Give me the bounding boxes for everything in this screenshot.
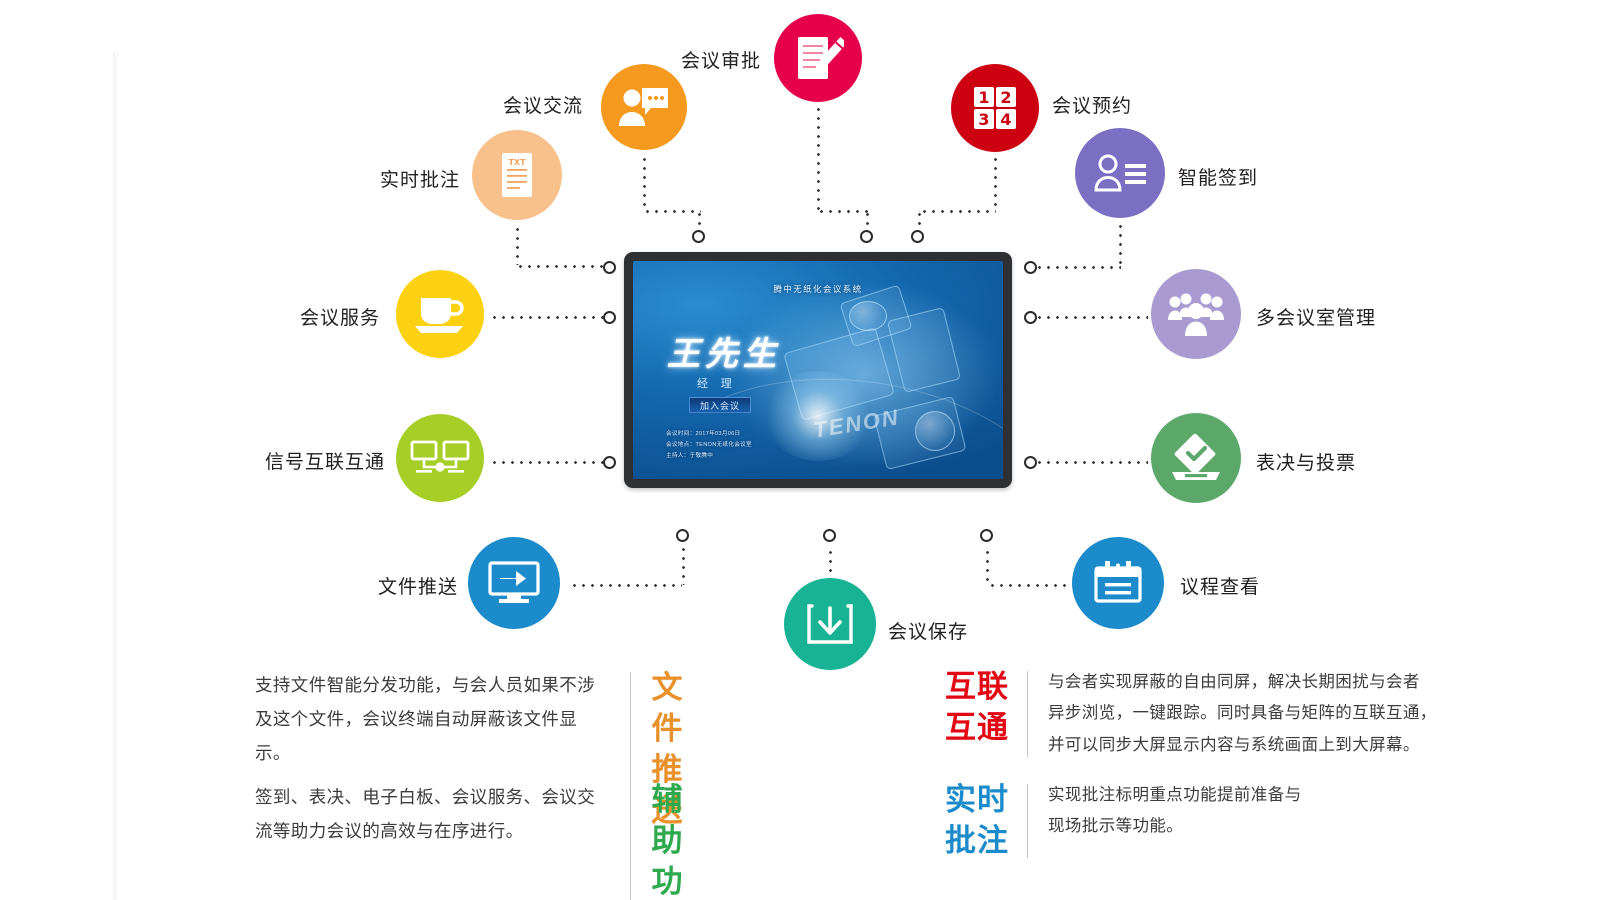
blurb-divider: [1027, 784, 1028, 858]
node-label-vote-and-poll: 表决与投票: [1256, 448, 1356, 475]
connector-segment: [643, 210, 701, 213]
node-realtime-annotation[interactable]: TXT: [472, 130, 562, 220]
decorative-globe: [915, 411, 955, 451]
blurb-auxiliary: 签到、表决、电子白板、会议服务、会议交 流等助力会议的高效与在序进行。 辅助 功…: [255, 780, 715, 900]
meeting-host: 主持人：于敬腾中: [666, 451, 752, 462]
dual-monitor-icon: [410, 438, 470, 478]
connector-node: [911, 230, 924, 243]
connector-node: [603, 456, 616, 469]
join-meeting-button[interactable]: 加入会议: [689, 397, 751, 413]
connector-segment: [817, 210, 869, 213]
decorative-world-map: [849, 301, 887, 331]
meeting-time: 会议时间：2017年03月06日: [666, 429, 752, 440]
blurb-description: 与会者实现屏蔽的自由同屏，解决长期困扰与会者 异步浏览，一键跟踪。同时具备与矩阵…: [1048, 667, 1478, 761]
blurb-tag: 互联 互通: [945, 667, 1009, 749]
node-file-push[interactable]: [468, 537, 560, 629]
node-label-meeting-service: 会议服务: [300, 303, 380, 330]
infographic-canvas: TENON 腾中无纸化会议系统 王先生 经 理 加入会议 会议时间：2017年0…: [0, 0, 1600, 900]
node-meeting-booking[interactable]: 1 2 3 4: [951, 64, 1039, 152]
blurb-tag: 实时 批注: [945, 780, 1009, 862]
coffee-cup-icon: [413, 292, 467, 336]
node-agenda-view[interactable]: [1072, 537, 1164, 629]
connector-node: [1024, 261, 1037, 274]
screen-user-role: 经 理: [697, 375, 737, 391]
node-label-multi-room-management: 多会议室管理: [1256, 303, 1376, 330]
connector-segment: [682, 545, 685, 585]
person-list-icon: [1092, 152, 1148, 194]
svg-text:2: 2: [1000, 88, 1011, 107]
people-group-icon: [1167, 290, 1225, 338]
connector-segment: [490, 461, 608, 464]
connector-segment: [994, 155, 997, 210]
node-label-realtime-annotation: 实时批注: [380, 165, 460, 192]
svg-text:3: 3: [978, 110, 989, 129]
blurb-realtime-annotation: 实时 批注 实现批注标明重点功能提前准备与 现场批示等功能。: [945, 780, 1448, 862]
node-label-meeting-save: 会议保存: [888, 617, 968, 644]
number-grid-icon: 1 2 3 4: [971, 84, 1019, 132]
connector-node: [823, 529, 836, 542]
connector-segment: [1035, 266, 1121, 269]
monitor-screen: TENON 腾中无纸化会议系统 王先生 经 理 加入会议 会议时间：2017年0…: [633, 261, 1003, 479]
connector-segment: [516, 225, 519, 265]
connector-node: [603, 261, 616, 274]
connector-node: [1024, 311, 1037, 324]
node-signal-interconnect[interactable]: [396, 414, 484, 502]
document-pencil-icon: [792, 33, 844, 83]
svg-text:4: 4: [1000, 110, 1011, 129]
blurb-description: 实现批注标明重点功能提前准备与 现场批示等功能。: [1048, 780, 1448, 843]
agenda-board-icon: [1093, 560, 1143, 606]
node-smart-checkin[interactable]: [1075, 128, 1165, 218]
blurb-divider: [1027, 671, 1028, 757]
blurb-tag: 辅助 功能: [651, 780, 715, 900]
connector-segment: [988, 584, 1070, 587]
svg-text:1: 1: [978, 88, 989, 107]
node-label-meeting-approval: 会议审批: [681, 46, 761, 73]
node-meeting-service[interactable]: [396, 270, 484, 358]
connector-segment: [490, 316, 608, 319]
connector-node: [860, 230, 873, 243]
connector-segment: [918, 210, 921, 232]
connector-node: [676, 529, 689, 542]
node-label-signal-interconnect: 信号互联互通: [265, 447, 385, 474]
download-tray-icon: [806, 600, 854, 648]
node-label-file-push: 文件推送: [378, 572, 458, 599]
screen-arrow-icon: [487, 560, 541, 606]
connector-segment: [698, 210, 701, 232]
connector-segment: [1035, 316, 1148, 319]
screen-title: 腾中无纸化会议系统: [633, 283, 1003, 295]
connector-segment: [516, 265, 608, 268]
blurb-description: 签到、表决、电子白板、会议服务、会议交 流等助力会议的高效与在序进行。: [255, 780, 612, 848]
connector-segment: [817, 105, 820, 210]
blurb-divider: [630, 784, 631, 900]
connector-segment: [570, 584, 682, 587]
node-multi-room-management[interactable]: [1151, 269, 1241, 359]
node-meeting-approval[interactable]: [774, 14, 862, 102]
blurb-description: 支持文件智能分发功能，与会人员如果不涉 及这个文件，会议终端自动屏蔽该文件显示。: [255, 668, 612, 770]
node-label-meeting-chat: 会议交流: [503, 91, 583, 118]
connector-segment: [643, 155, 646, 210]
connector-node: [980, 529, 993, 542]
connector-segment: [866, 210, 869, 232]
connector-segment: [986, 548, 989, 586]
node-label-meeting-booking: 会议预约: [1052, 91, 1132, 118]
connector-segment: [1035, 461, 1148, 464]
person-chat-icon: [617, 84, 671, 130]
node-label-agenda-view: 议程查看: [1180, 572, 1260, 599]
svg-text:TXT: TXT: [508, 158, 526, 167]
screen-meeting-meta: 会议时间：2017年03月06日 会议地点：TENON无纸化会议室 主持人：于敬…: [666, 429, 752, 462]
connector-node: [692, 230, 705, 243]
connector-segment: [829, 548, 832, 580]
connector-segment: [1119, 222, 1122, 267]
node-meeting-save[interactable]: [784, 578, 876, 670]
page-left-edge-inner: [117, 52, 119, 900]
node-label-smart-checkin: 智能签到: [1178, 163, 1258, 190]
central-display-monitor: TENON 腾中无纸化会议系统 王先生 经 理 加入会议 会议时间：2017年0…: [624, 252, 1012, 488]
connector-node: [1024, 456, 1037, 469]
node-meeting-chat[interactable]: [601, 64, 687, 150]
connector-segment: [920, 210, 996, 213]
txt-document-icon: TXT: [497, 151, 537, 199]
node-vote-and-poll[interactable]: [1151, 413, 1241, 503]
meeting-place: 会议地点：TENON无纸化会议室: [666, 440, 752, 451]
connector-node: [603, 311, 616, 324]
blurb-interconnect: 互联 互通 与会者实现屏蔽的自由同屏，解决长期困扰与会者 异步浏览，一键跟踪。同…: [945, 667, 1478, 761]
screen-user-name: 王先生: [667, 327, 781, 375]
ballot-box-icon: [1168, 434, 1224, 482]
